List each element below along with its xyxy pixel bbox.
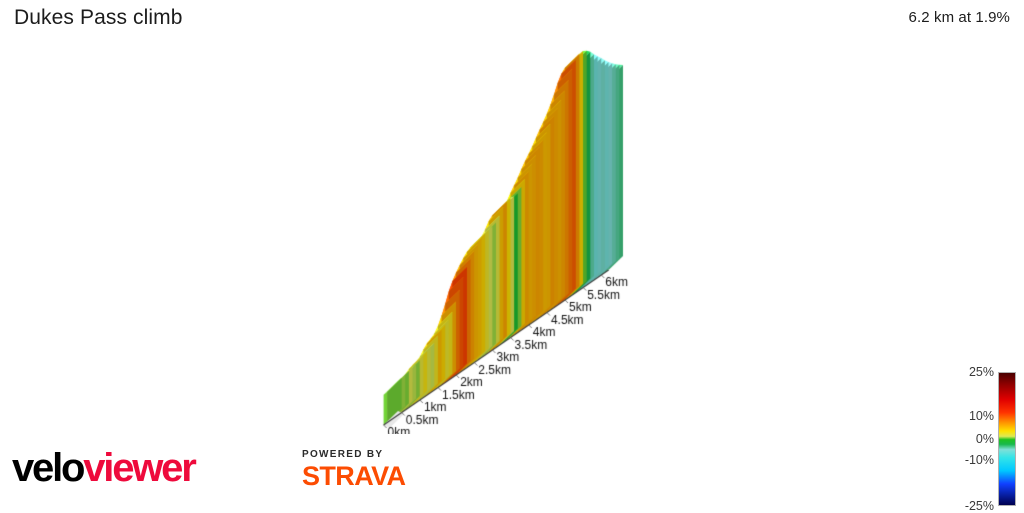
gradient-legend-tick: 25% <box>969 366 994 379</box>
veloviewer-logo[interactable]: veloviewer <box>12 448 195 488</box>
strava-wordmark: STRAVA <box>302 463 405 490</box>
climb-stats: 6.2 km at 1.9% <box>909 9 1010 26</box>
logo-velo-text: velo <box>12 446 83 490</box>
powered-by-label: POWERED BY <box>302 450 405 460</box>
strava-attribution[interactable]: POWERED BY STRAVA <box>302 450 405 490</box>
gradient-legend-tick: 10% <box>969 410 994 423</box>
profile-3d-canvas[interactable] <box>0 34 1024 434</box>
footer-branding: veloviewer POWERED BY STRAVA <box>0 440 1024 512</box>
page-title: Dukes Pass climb <box>14 7 182 28</box>
climb-profile-chart[interactable] <box>0 34 1024 434</box>
header-bar: Dukes Pass climb 6.2 km at 1.9% <box>0 0 1024 34</box>
logo-viewer-text: viewer <box>83 446 194 490</box>
